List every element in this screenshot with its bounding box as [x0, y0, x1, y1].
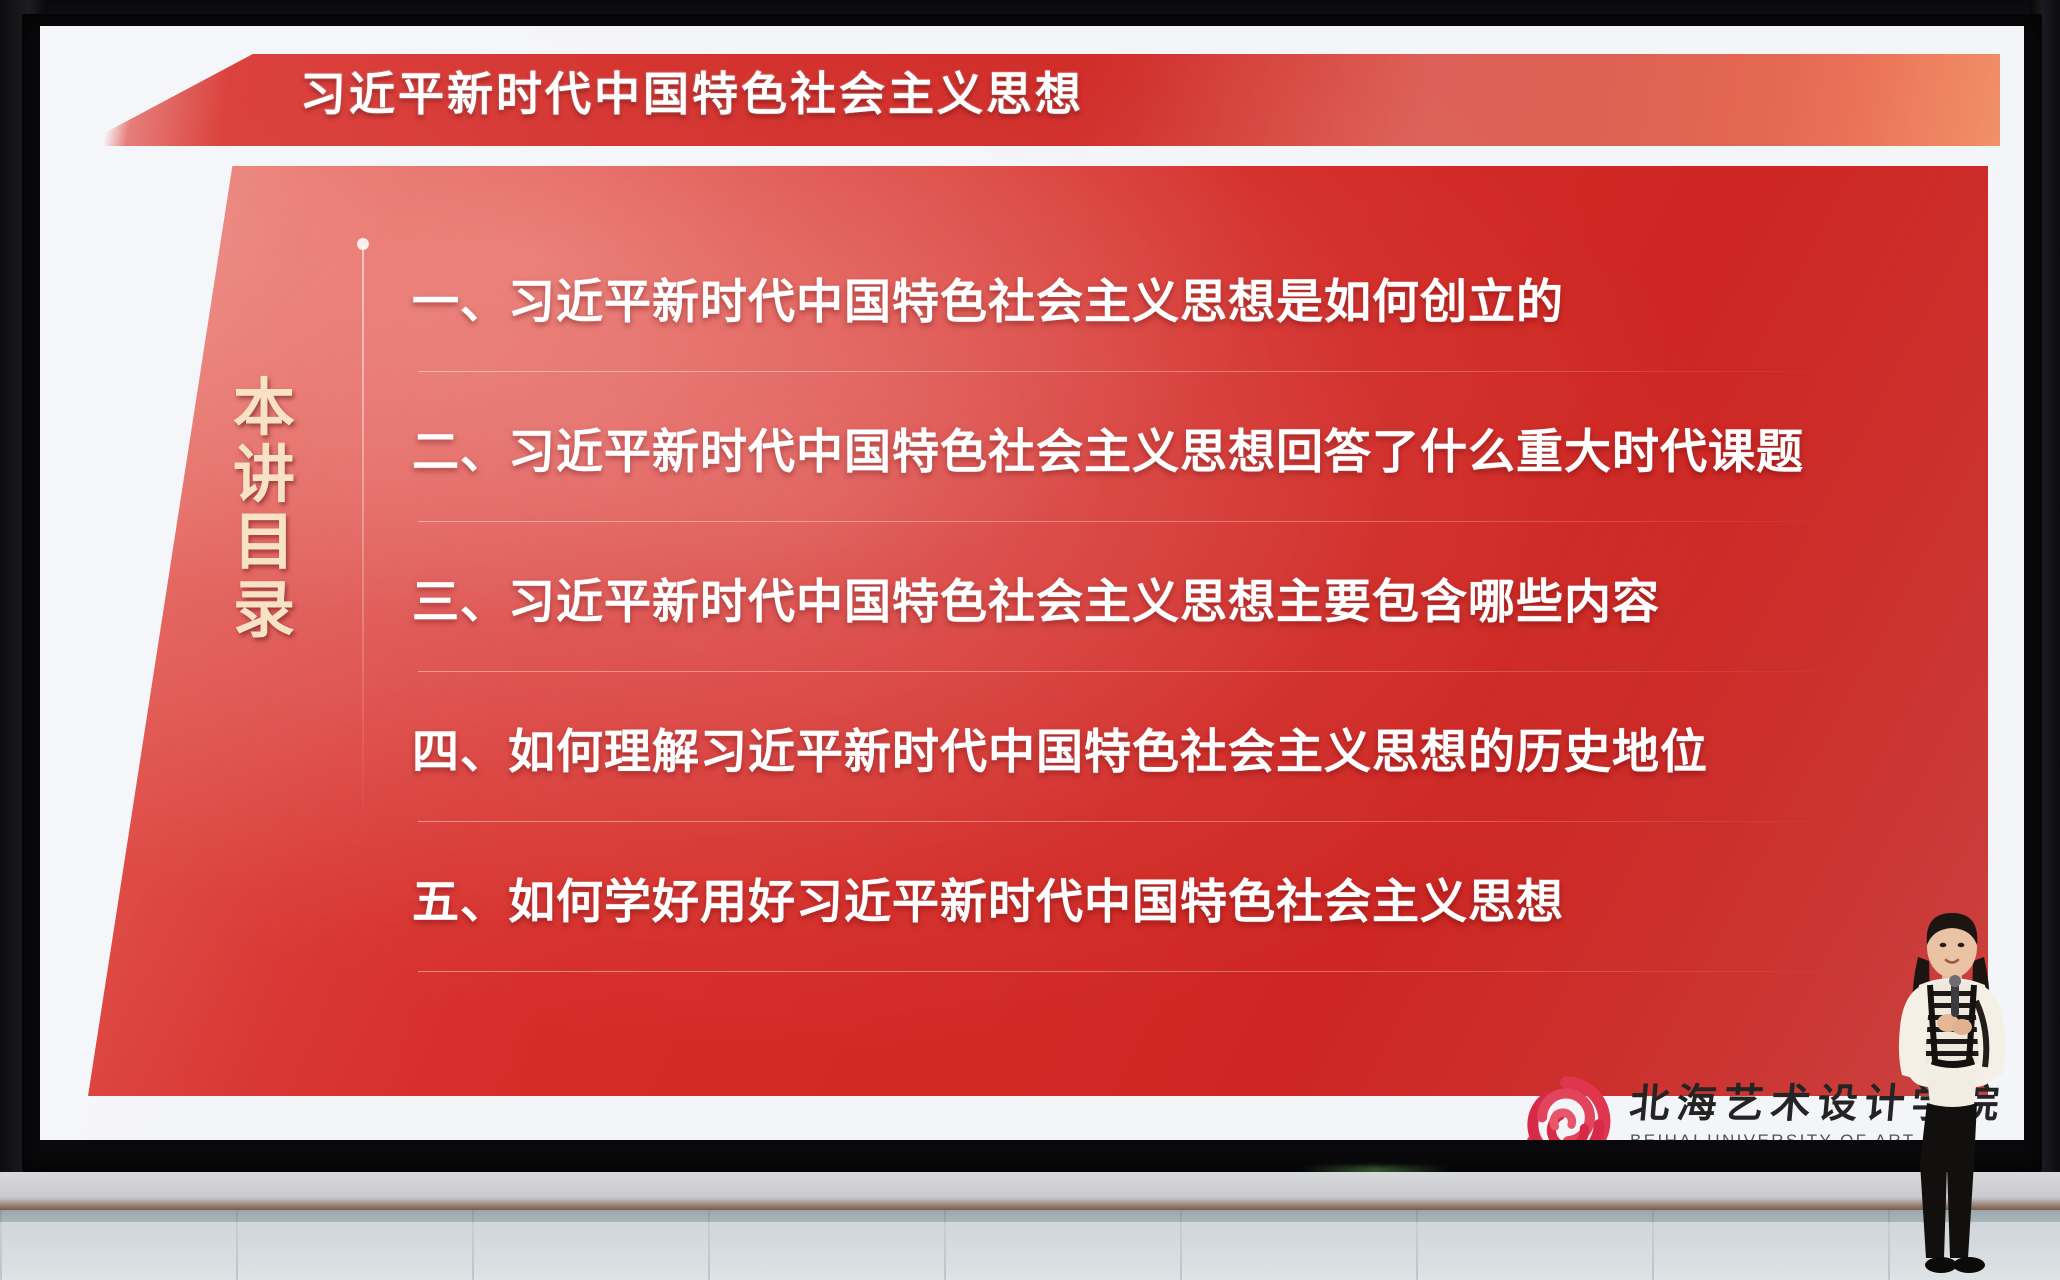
toc-item: 五、如何学好用好习近平新时代中国特色社会主义思想: [412, 822, 1912, 972]
floor-reflection: [0, 1222, 2060, 1280]
swirl-logo-icon: [1520, 1075, 1612, 1140]
vertical-label-char-4: 录: [233, 578, 295, 641]
toc-divider: [418, 971, 1852, 972]
presenter-figure: [1856, 905, 2046, 1280]
toc-item-label: 三、习近平新时代中国特色社会主义思想主要包含哪些内容: [412, 563, 1660, 632]
toc-item: 四、如何理解习近平新时代中国特色社会主义思想的历史地位: [412, 672, 1912, 822]
slide-title: 习近平新时代中国特色社会主义思想: [300, 54, 1800, 128]
table-of-contents: 一、习近平新时代中国特色社会主义思想是如何创立的 二、习近平新时代中国特色社会主…: [412, 222, 1912, 972]
vertical-label-char-1: 本: [233, 376, 295, 439]
toc-item-label: 四、如何理解习近平新时代中国特色社会主义思想的历史地位: [412, 713, 1708, 782]
slide-canvas: 习近平新时代中国特色社会主义思想 本 讲 目 录 一、习近平新时代中国特色社会主…: [40, 26, 2024, 1140]
timeline-rule: [362, 244, 364, 824]
section-vertical-label: 本 讲 目 录: [218, 376, 310, 641]
toc-item-label: 二、习近平新时代中国特色社会主义思想回答了什么重大时代课题: [412, 413, 1804, 482]
toc-item: 二、习近平新时代中国特色社会主义思想回答了什么重大时代课题: [412, 372, 1912, 522]
toc-item-label: 五、如何学好用好习近平新时代中国特色社会主义思想: [412, 863, 1564, 932]
lecture-hall-scene: 习近平新时代中国特色社会主义思想 本 讲 目 录 一、习近平新时代中国特色社会主…: [0, 0, 2060, 1280]
presentation-screen: 习近平新时代中国特色社会主义思想 本 讲 目 录 一、习近平新时代中国特色社会主…: [40, 26, 2024, 1140]
vertical-label-char-2: 讲: [233, 443, 295, 506]
toc-item-label: 一、习近平新时代中国特色社会主义思想是如何创立的: [412, 263, 1564, 332]
vertical-label-char-3: 目: [233, 510, 295, 573]
toc-item: 三、习近平新时代中国特色社会主义思想主要包含哪些内容: [412, 522, 1912, 672]
toc-item: 一、习近平新时代中国特色社会主义思想是如何创立的: [412, 222, 1912, 372]
